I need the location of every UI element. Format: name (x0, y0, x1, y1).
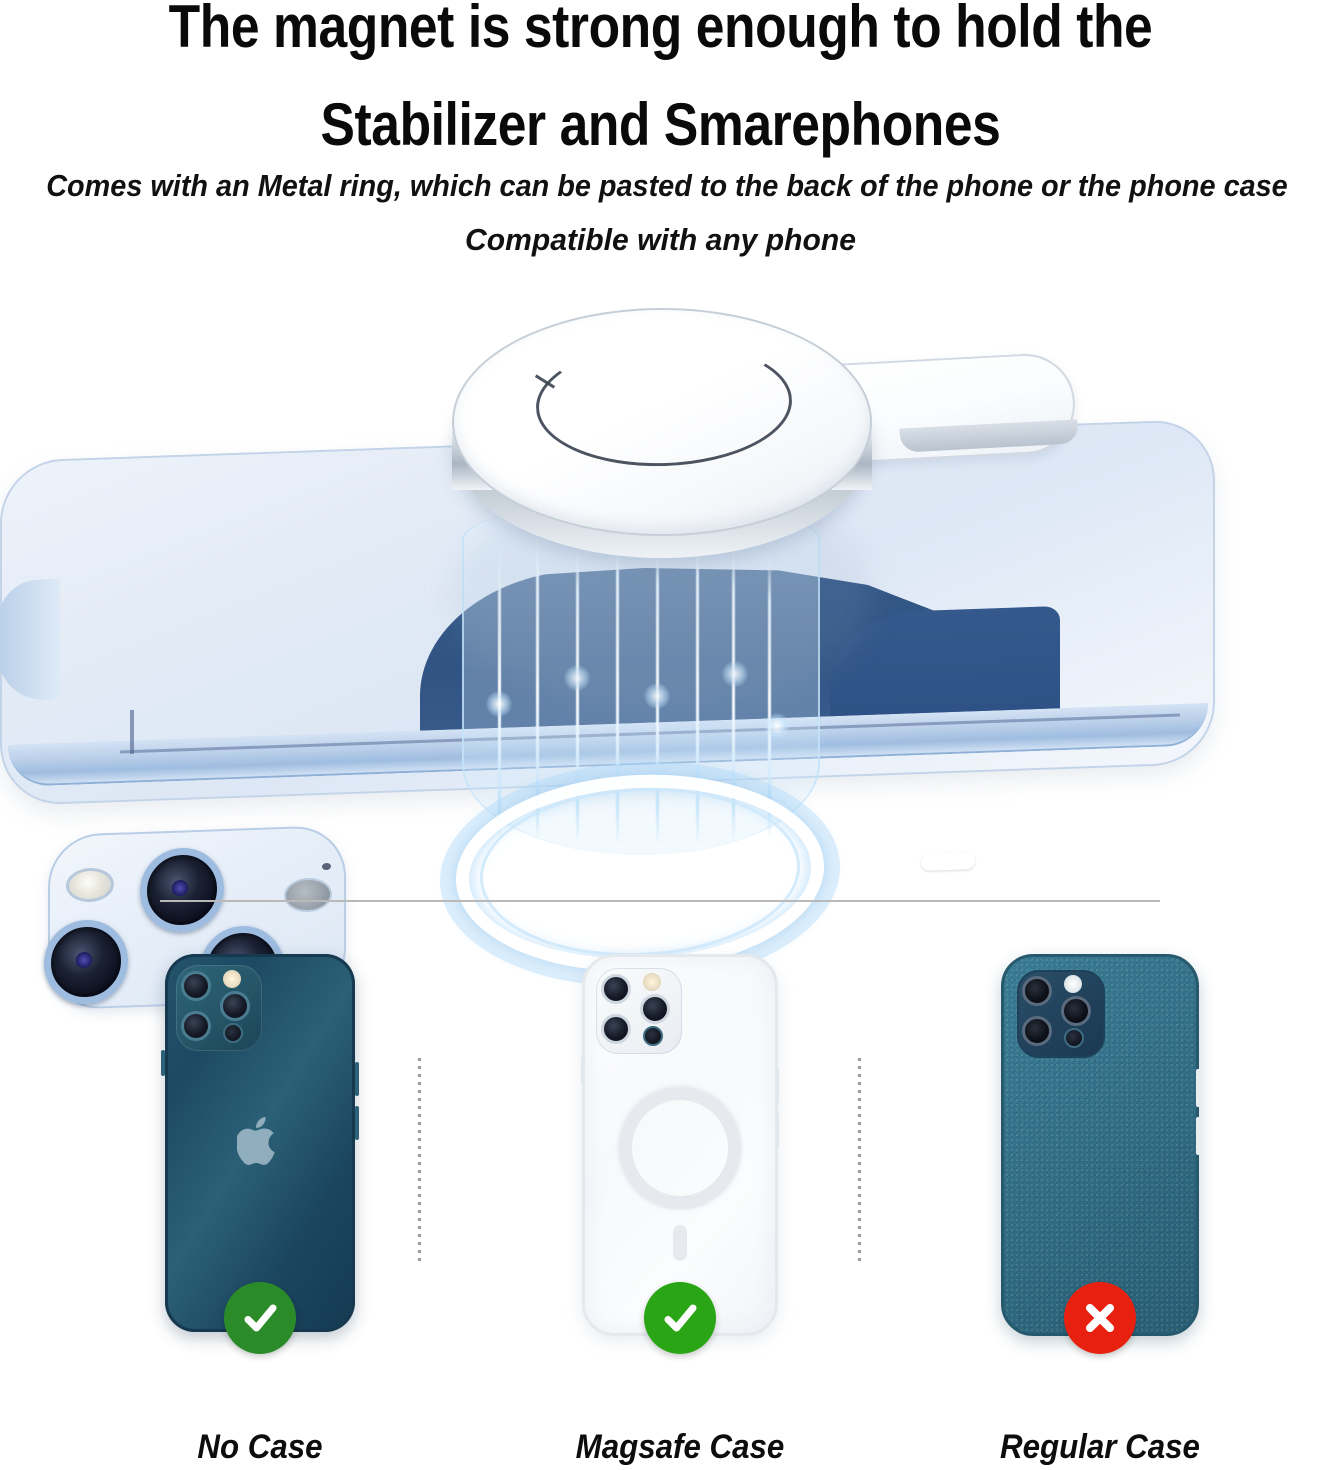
magsafe-ring-icon (619, 1087, 741, 1209)
check-icon (658, 1296, 702, 1340)
comparison-caption: Regular Case (916, 1428, 1284, 1467)
lidar-sensor-icon (1064, 1028, 1084, 1048)
cross-icon (1078, 1296, 1122, 1340)
comparison-item-no-case: No Case (60, 930, 460, 1470)
status-badge (224, 1282, 296, 1354)
subheadline-line-2: Compatible with any phone (20, 222, 1301, 258)
camera-module-icon (176, 965, 262, 1051)
camera-flash-icon (223, 970, 241, 988)
case-compatibility-comparison: No Case Magsafe Case (0, 930, 1321, 1470)
comparison-item-regular-case: Regular Case (900, 930, 1300, 1470)
white-pill-marker-icon (921, 852, 975, 871)
comparison-item-magsafe-case: Magsafe Case (480, 930, 880, 1470)
comparison-caption: Magsafe Case (496, 1428, 864, 1467)
iphone-teal-leather-case-icon (1001, 954, 1199, 1336)
subheadline-line-1: Comes with an Metal ring, which can be p… (46, 168, 1275, 204)
section-divider (160, 900, 1160, 902)
status-badge (644, 1282, 716, 1354)
camera-module-icon (596, 968, 682, 1054)
phone-antenna-notch (130, 710, 134, 754)
apple-logo-icon (237, 1114, 283, 1168)
iphone-clear-magsafe-case-icon (582, 954, 778, 1336)
camera-module-icon (1017, 970, 1105, 1058)
lidar-sensor-icon (643, 1026, 663, 1046)
comparison-caption: No Case (76, 1428, 444, 1467)
magsafe-alignment-pill-icon (673, 1225, 687, 1261)
status-badge (1064, 1282, 1136, 1354)
headline-line-2: Stabilizer and Smarephones (92, 92, 1228, 158)
product-infographic: The magnet is strong enough to hold the … (0, 0, 1321, 1470)
camera-flash-icon (1064, 975, 1082, 993)
camera-flash-icon (643, 973, 661, 991)
phone-left-edge (0, 579, 60, 701)
headline-line-1: The magnet is strong enough to hold the (92, 0, 1228, 60)
lidar-sensor-icon (223, 1023, 243, 1043)
check-icon (238, 1296, 282, 1340)
hero-product-scene (0, 280, 1321, 850)
iphone-pacific-blue-icon (165, 954, 355, 1332)
